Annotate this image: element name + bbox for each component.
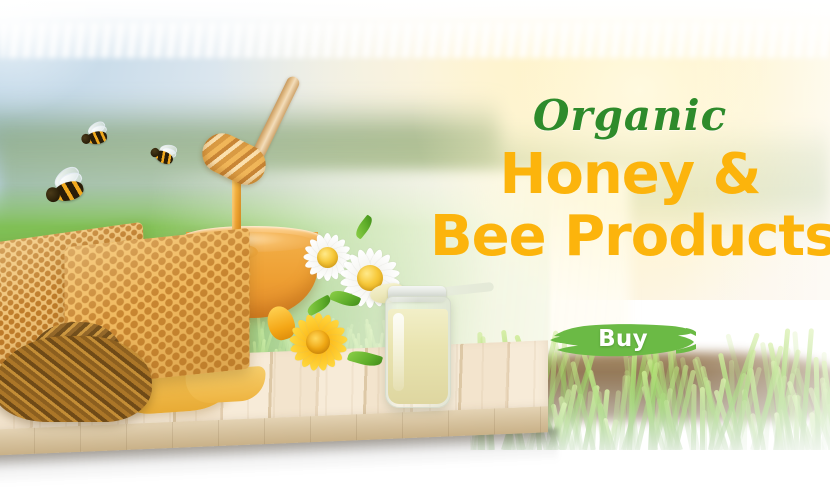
propolis-pile [0,336,152,422]
top-left-fade [0,0,120,120]
headline-line-1: Honey & [430,144,830,206]
page-title: Honey & Bee Products [430,144,830,268]
top-fade [0,0,830,52]
calendula-flower [282,306,354,378]
eyebrow-organic: Organic [430,92,830,140]
copy-block: Organic Honey & Bee Products Buy [430,92,830,382]
headline-line-2: Bee Products [430,206,830,268]
honey-promo-banner: Organic Honey & Bee Products Buy [0,0,830,492]
jar-highlight [393,313,404,391]
buy-button-label: Buy [548,314,698,364]
buy-button[interactable]: Buy [548,314,698,364]
